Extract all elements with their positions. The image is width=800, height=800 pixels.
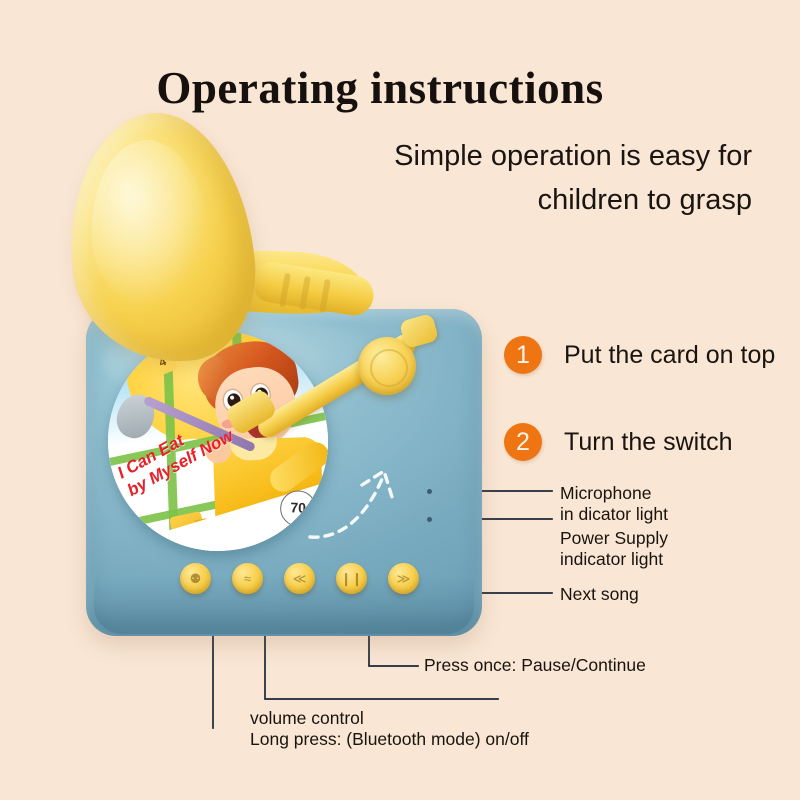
- subtitle-line-2: children to grasp: [312, 178, 752, 222]
- story-card-disc[interactable]: 4: [94, 317, 342, 565]
- microphone-indicator-light: [427, 489, 432, 494]
- previous-icon: ≪: [284, 563, 315, 594]
- infographic-canvas: Operating instructions Simple operation …: [0, 0, 800, 800]
- callout-next-song-line-1: Next song: [560, 584, 639, 605]
- callout-volume-control: volume control Long press: (Bluetooth mo…: [250, 708, 529, 750]
- next-track-button[interactable]: ≫: [388, 563, 419, 594]
- callout-power-supply: Power Supply indicator light: [560, 528, 668, 570]
- next-icon: ≫: [388, 563, 419, 594]
- callout-microphone-line-2: in dicator light: [560, 504, 668, 525]
- callout-microphone-line-1: Microphone: [560, 483, 668, 504]
- step-label-1: Put the card on top: [564, 341, 775, 370]
- horn-inner-highlight: [82, 134, 219, 316]
- subtitle-line-1: Simple operation is easy for: [312, 134, 752, 178]
- callout-power-line-1: Power Supply: [560, 528, 668, 549]
- step-item-1: 1 Put the card on top: [504, 336, 775, 374]
- rotation-arrow-icon: [308, 449, 438, 549]
- callout-pause-line-1: Press once: Pause/Continue: [424, 655, 646, 676]
- step-item-2: 2 Turn the switch: [504, 423, 733, 461]
- callout-microphone: Microphone in dicator light: [560, 483, 668, 525]
- microphone-icon: ⚉: [180, 563, 211, 594]
- callout-volume-line-1: volume control: [250, 708, 529, 729]
- step-badge-1: 1: [504, 336, 542, 374]
- callout-next-song: Next song: [560, 584, 639, 605]
- callout-pause-continue: Press once: Pause/Continue: [424, 655, 646, 676]
- page-title: Operating instructions: [0, 62, 760, 114]
- play-pause-button[interactable]: ❙❙: [336, 563, 367, 594]
- page-subtitle: Simple operation is easy for children to…: [312, 134, 752, 222]
- volume-button[interactable]: ≈: [232, 563, 263, 594]
- pause-icon: ❙❙: [336, 563, 367, 594]
- callout-power-line-2: indicator light: [560, 549, 668, 570]
- power-indicator-light: [427, 517, 432, 522]
- card-artwork: 4: [94, 317, 342, 565]
- previous-track-button[interactable]: ≪: [284, 563, 315, 594]
- volume-icon: ≈: [232, 563, 263, 594]
- step-label-2: Turn the switch: [564, 428, 733, 457]
- microphone-button[interactable]: ⚉: [180, 563, 211, 594]
- step-badge-2: 2: [504, 423, 542, 461]
- gramophone-music-player: 4: [86, 309, 482, 636]
- callout-volume-line-2: Long press: (Bluetooth mode) on/off: [250, 729, 529, 750]
